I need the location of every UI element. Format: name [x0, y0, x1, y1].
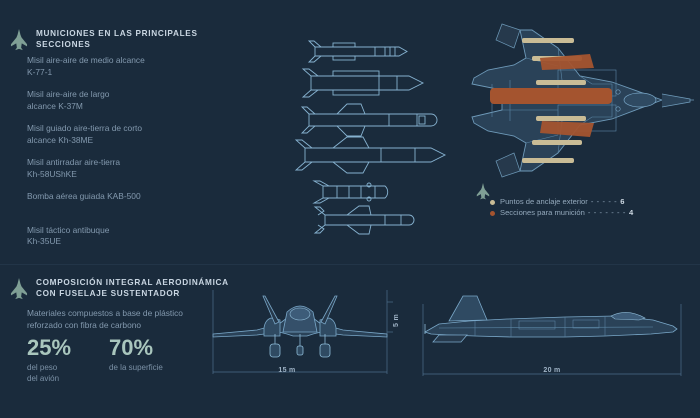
list-item: Misil guiado aire-tierra de corto alcanc…: [27, 123, 212, 146]
dimension-label-height: 5 m: [393, 314, 400, 327]
list-item: Misil aire-aire de largo alcance K-37M: [27, 89, 212, 112]
section-2-header: COMPOSICIÓN INTEGRAL AERODINÁMICA CON FU…: [10, 277, 229, 300]
legend-dash: - - - - - - -: [588, 208, 626, 218]
section-1-header: MUNICIONES EN LAS PRINCIPALES SECCIONES: [10, 28, 198, 51]
section-1-title: MUNICIONES EN LAS PRINCIPALES SECCIONES: [36, 28, 198, 50]
legend-row: Secciones para munición - - - - - - - 4: [490, 208, 633, 218]
dimension-label-width: 15 m: [278, 367, 295, 374]
legend-rows: Puntos de anclaje exterior - - - - - 6 S…: [490, 197, 633, 219]
section-2-title: COMPOSICIÓN INTEGRAL AERODINÁMICA CON FU…: [36, 277, 229, 299]
landing-gear: [270, 334, 330, 357]
legend-label: Secciones para munición: [500, 208, 585, 218]
stat-value: 70%: [109, 336, 163, 360]
jet-top-silhouette-icon: [476, 183, 490, 200]
jet-top-silhouette-icon: [10, 29, 28, 51]
legend-dash: - - - - -: [591, 197, 617, 207]
list-item: Misil táctico antibuque Kh-35UE: [27, 225, 212, 248]
missile-k-77-1: [309, 41, 407, 62]
legend-dot-bays: [490, 211, 495, 216]
legend-dot-hardpoints: [490, 200, 495, 205]
bomb-kab-500: [314, 181, 388, 203]
composition-description: Materiales compuestos a base de plástico…: [27, 307, 217, 331]
legend-value: 4: [629, 208, 633, 218]
aircraft-side-view-diagram: [415, 290, 690, 390]
stat-label: del peso del avión: [27, 362, 71, 384]
missile-kh-58ushke: [296, 137, 445, 173]
missile-illustrations: [293, 38, 473, 238]
legend-row: Puntos de anclaje exterior - - - - - 6: [490, 197, 633, 207]
section-divider: [0, 264, 700, 265]
aircraft-top-view-diagram: [462, 18, 697, 183]
jet-top-silhouette-icon: [10, 278, 28, 300]
list-item: Misil antirradar aire-tierra Kh-58UShKE: [27, 157, 212, 180]
aircraft-front-view-diagram: [205, 288, 395, 388]
infographic-root: MUNICIONES EN LAS PRINCIPALES SECCIONES …: [0, 0, 700, 418]
missile-k-37m: [303, 69, 423, 97]
stat-label: de la superficie: [109, 362, 163, 373]
stat-weight: 25% del peso del avión: [27, 336, 71, 384]
legend-label: Puntos de anclaje exterior: [500, 197, 588, 207]
stat-surface: 70% de la superficie: [109, 336, 163, 384]
munitions-list: Misil aire-aire de medio alcance K-77-1 …: [27, 55, 212, 259]
list-item: Bomba aérea guiada KAB-500: [27, 191, 212, 203]
stat-value: 25%: [27, 336, 71, 360]
list-item: Misil aire-aire de medio alcance K-77-1: [27, 55, 212, 78]
missile-kh-35ue: [315, 206, 414, 234]
dimension-label-length: 20 m: [543, 367, 560, 374]
legend-value: 6: [620, 197, 624, 207]
missile-kh-38me: [302, 104, 437, 136]
composition-stats: 25% del peso del avión 70% de la superfi…: [27, 336, 163, 384]
